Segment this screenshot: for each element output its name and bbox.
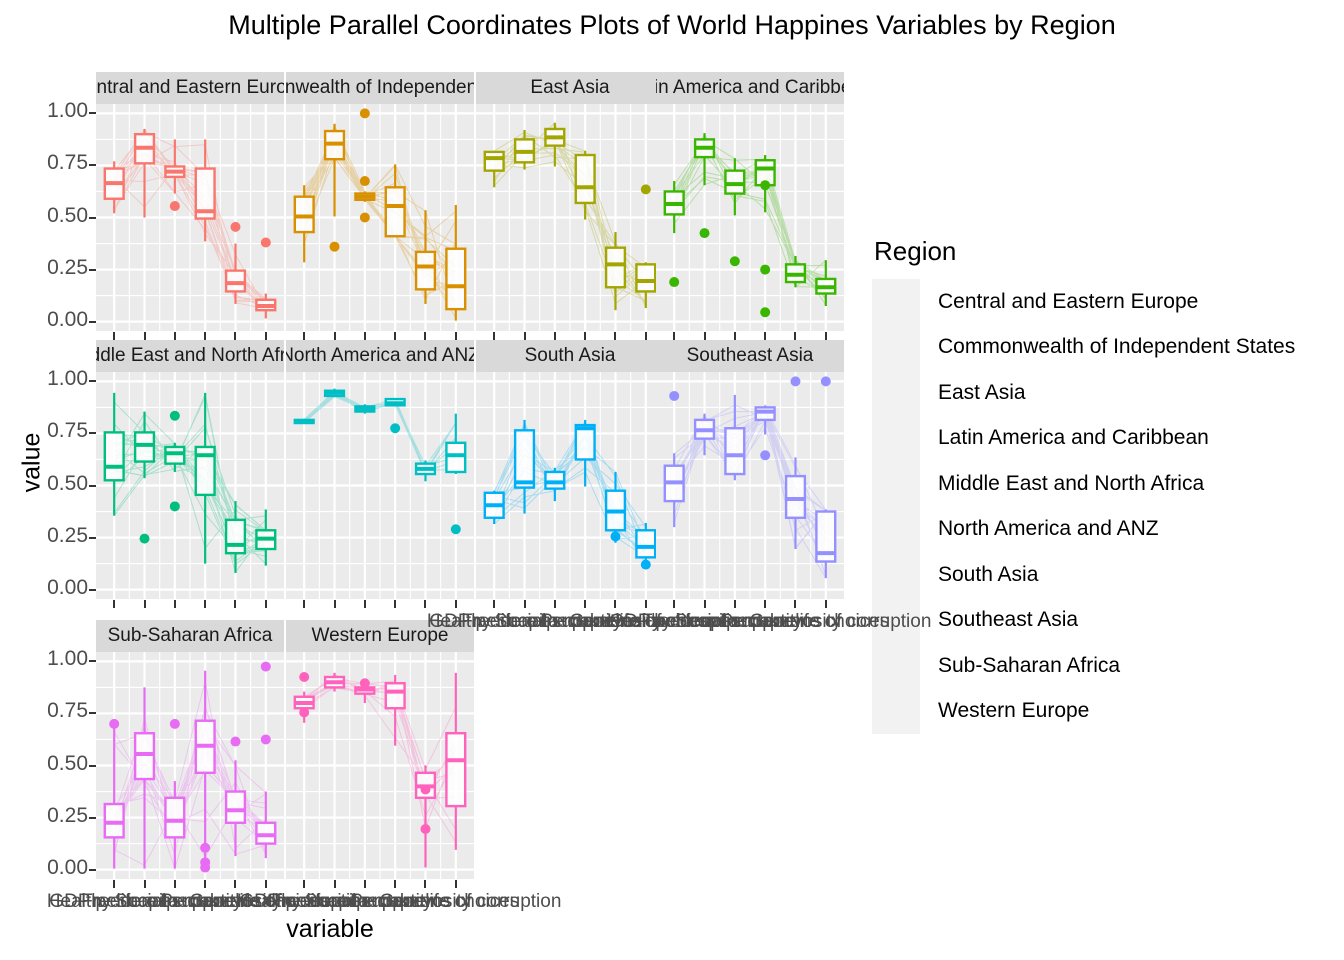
y-tick-mark bbox=[89, 589, 96, 591]
x-tick-mark bbox=[704, 332, 706, 340]
facet-panel-commonwealth-of-independent-states: Commonwealth of Independent States bbox=[286, 72, 474, 331]
facet-strip: South Asia bbox=[476, 340, 664, 372]
x-tick-mark bbox=[584, 332, 586, 340]
y-tick-label: 1.00 bbox=[18, 647, 88, 671]
y-tick-mark bbox=[89, 660, 96, 662]
legend-item-south-asia[interactable]: South Asia bbox=[872, 552, 1342, 598]
x-tick-mark bbox=[265, 600, 267, 608]
x-tick-mark bbox=[645, 600, 647, 608]
x-tick-mark bbox=[234, 880, 236, 888]
legend-key-background bbox=[872, 279, 920, 734]
legend-item-label: Central and Eastern Europe bbox=[938, 290, 1198, 314]
x-tick-mark bbox=[303, 600, 305, 608]
facet-strip-label: Central and Eastern Europe bbox=[96, 72, 284, 104]
facet-panel-latin-america-and-caribbean: Latin America and Caribbean bbox=[656, 72, 844, 331]
y-tick-label: 0.75 bbox=[18, 151, 88, 175]
x-tick-mark bbox=[113, 600, 115, 608]
legend-item-middle-east-and-north-africa[interactable]: Middle East and North Africa bbox=[872, 461, 1342, 507]
legend-item-southeast-asia[interactable]: Southeast Asia bbox=[872, 598, 1342, 644]
facet-strip-label: Sub-Saharan Africa bbox=[108, 620, 273, 652]
facet-strip-label: Commonwealth of Independent States bbox=[286, 72, 474, 104]
y-tick-mark bbox=[89, 712, 96, 714]
y-tick-mark bbox=[89, 217, 96, 219]
x-tick-mark bbox=[394, 600, 396, 608]
legend-item-label: Western Europe bbox=[938, 699, 1089, 723]
facet-strip-label: Southeast Asia bbox=[687, 340, 814, 372]
x-tick-mark bbox=[584, 600, 586, 608]
facet-strip-label: South Asia bbox=[525, 340, 616, 372]
facet-panel-middle-east-and-north-africa: Middle East and North Africa bbox=[96, 340, 284, 599]
facet-strip-label: Middle East and North Africa bbox=[96, 340, 284, 372]
facet-panel-southeast-asia: Southeast Asia bbox=[656, 340, 844, 599]
legend-item-latin-america-and-caribbean[interactable]: Latin America and Caribbean bbox=[872, 416, 1342, 462]
y-tick-label: 0.00 bbox=[18, 576, 88, 600]
plot-panel bbox=[286, 104, 474, 331]
x-tick-mark bbox=[174, 600, 176, 608]
y-tick-mark bbox=[89, 485, 96, 487]
facet-strip: Sub-Saharan Africa bbox=[96, 620, 284, 652]
x-tick-mark bbox=[234, 600, 236, 608]
x-tick-mark bbox=[303, 332, 305, 340]
legend-item-label: North America and ANZ bbox=[938, 517, 1159, 541]
y-tick-label: 1.00 bbox=[18, 99, 88, 123]
x-tick-mark bbox=[554, 600, 556, 608]
x-tick-mark bbox=[673, 600, 675, 608]
facet-strip: Central and Eastern Europe bbox=[96, 72, 284, 104]
facet-strip: Latin America and Caribbean bbox=[656, 72, 844, 104]
legend-item-label: South Asia bbox=[938, 563, 1038, 587]
legend-item-central-and-eastern-europe[interactable]: Central and Eastern Europe bbox=[872, 279, 1342, 325]
x-tick-mark bbox=[334, 332, 336, 340]
x-tick-mark bbox=[704, 600, 706, 608]
y-tick-label: 0.25 bbox=[18, 256, 88, 280]
x-tick-mark bbox=[673, 332, 675, 340]
legend-items: Central and Eastern EuropeCommonwealth o… bbox=[872, 279, 1342, 734]
y-tick-label: 0.25 bbox=[18, 524, 88, 548]
x-tick-mark bbox=[113, 880, 115, 888]
facet-strip-label: Latin America and Caribbean bbox=[656, 72, 844, 104]
x-tick-mark bbox=[424, 600, 426, 608]
plot-panel bbox=[656, 372, 844, 599]
x-tick-mark bbox=[734, 332, 736, 340]
x-tick-mark bbox=[424, 332, 426, 340]
legend-item-label: Commonwealth of Independent States bbox=[938, 335, 1295, 359]
legend-item-commonwealth-of-independent-states[interactable]: Commonwealth of Independent States bbox=[872, 325, 1342, 371]
y-tick-mark bbox=[89, 765, 96, 767]
x-tick-mark bbox=[144, 332, 146, 340]
x-tick-mark bbox=[364, 880, 366, 888]
x-tick-mark bbox=[394, 332, 396, 340]
facet-panel-sub-saharan-africa: Sub-Saharan Africa bbox=[96, 620, 284, 879]
legend-item-label: Southeast Asia bbox=[938, 608, 1078, 632]
facet-strip: Commonwealth of Independent States bbox=[286, 72, 474, 104]
y-tick-label: 0.25 bbox=[18, 804, 88, 828]
y-tick-label: 0.00 bbox=[18, 856, 88, 880]
x-tick-mark bbox=[764, 600, 766, 608]
x-tick-mark bbox=[794, 600, 796, 608]
facet-panel-central-and-eastern-europe: Central and Eastern Europe bbox=[96, 72, 284, 331]
x-tick-mark bbox=[364, 332, 366, 340]
plot-panel bbox=[656, 104, 844, 331]
plot-panel bbox=[286, 372, 474, 599]
facet-panel-north-america-and-anz: North America and ANZ bbox=[286, 340, 474, 599]
x-tick-mark bbox=[645, 332, 647, 340]
x-tick-mark bbox=[303, 880, 305, 888]
x-tick-mark bbox=[204, 600, 206, 608]
x-tick-mark bbox=[764, 332, 766, 340]
x-tick-mark bbox=[825, 600, 827, 608]
facet-strip: East Asia bbox=[476, 72, 664, 104]
legend-item-label: Latin America and Caribbean bbox=[938, 426, 1209, 450]
x-tick-mark bbox=[794, 332, 796, 340]
facet-grid: Central and Eastern EuropeCommonwealth o… bbox=[0, 0, 860, 960]
x-tick-mark bbox=[144, 880, 146, 888]
x-tick-label: Perceptions of corruption bbox=[720, 611, 931, 633]
plot-panel bbox=[476, 104, 664, 331]
plot-panel bbox=[96, 104, 284, 331]
legend-item-label: East Asia bbox=[938, 381, 1026, 405]
x-tick-mark bbox=[174, 880, 176, 888]
x-tick-mark bbox=[493, 600, 495, 608]
legend-item-label: Sub-Saharan Africa bbox=[938, 654, 1120, 678]
x-tick-mark bbox=[493, 332, 495, 340]
x-tick-mark bbox=[394, 880, 396, 888]
x-tick-mark bbox=[455, 332, 457, 340]
x-tick-mark bbox=[265, 880, 267, 888]
x-tick-mark bbox=[825, 332, 827, 340]
x-tick-mark bbox=[524, 600, 526, 608]
facet-panel-south-asia: South Asia bbox=[476, 340, 664, 599]
y-tick-label: 0.50 bbox=[18, 752, 88, 776]
x-tick-mark bbox=[234, 332, 236, 340]
x-tick-mark bbox=[424, 880, 426, 888]
y-tick-label: 1.00 bbox=[18, 367, 88, 391]
x-tick-mark bbox=[204, 880, 206, 888]
y-tick-mark bbox=[89, 537, 96, 539]
legend: Region Central and Eastern EuropeCommonw… bbox=[872, 236, 1342, 734]
x-tick-mark bbox=[524, 332, 526, 340]
y-tick-label: 0.50 bbox=[18, 204, 88, 228]
x-tick-mark bbox=[334, 600, 336, 608]
x-tick-mark bbox=[174, 332, 176, 340]
x-tick-mark bbox=[614, 600, 616, 608]
x-tick-mark bbox=[144, 600, 146, 608]
facet-strip-label: East Asia bbox=[530, 72, 609, 104]
legend-item-western-europe[interactable]: Western Europe bbox=[872, 689, 1342, 735]
plot-panel bbox=[286, 652, 474, 879]
legend-item-north-america-and-anz[interactable]: North America and ANZ bbox=[872, 507, 1342, 553]
x-tick-mark bbox=[334, 880, 336, 888]
legend-item-sub-saharan-africa[interactable]: Sub-Saharan Africa bbox=[872, 643, 1342, 689]
facet-panel-western-europe: Western Europe bbox=[286, 620, 474, 879]
y-tick-mark bbox=[89, 432, 96, 434]
x-tick-mark bbox=[455, 880, 457, 888]
y-tick-mark bbox=[89, 380, 96, 382]
plot-panel bbox=[96, 652, 284, 879]
legend-item-east-asia[interactable]: East Asia bbox=[872, 370, 1342, 416]
y-tick-mark bbox=[89, 112, 96, 114]
x-tick-mark bbox=[113, 332, 115, 340]
x-tick-mark bbox=[265, 332, 267, 340]
facet-panel-east-asia: East Asia bbox=[476, 72, 664, 331]
x-tick-mark bbox=[614, 332, 616, 340]
y-tick-label: 0.00 bbox=[18, 308, 88, 332]
y-tick-mark bbox=[89, 269, 96, 271]
legend-item-label: Middle East and North Africa bbox=[938, 472, 1204, 496]
y-tick-mark bbox=[89, 164, 96, 166]
y-tick-label: 0.75 bbox=[18, 419, 88, 443]
x-tick-mark bbox=[364, 600, 366, 608]
x-tick-label: Perceptions of corruption bbox=[350, 891, 561, 913]
y-tick-mark bbox=[89, 817, 96, 819]
legend-title: Region bbox=[874, 236, 1342, 267]
plot-panel bbox=[476, 372, 664, 599]
facet-strip-label: North America and ANZ bbox=[286, 340, 474, 372]
facet-strip: Middle East and North Africa bbox=[96, 340, 284, 372]
x-tick-mark bbox=[204, 332, 206, 340]
facet-strip: North America and ANZ bbox=[286, 340, 474, 372]
y-tick-mark bbox=[89, 321, 96, 323]
x-tick-mark bbox=[455, 600, 457, 608]
plot-panel bbox=[96, 372, 284, 599]
x-tick-mark bbox=[734, 600, 736, 608]
facet-strip: Southeast Asia bbox=[656, 340, 844, 372]
y-tick-label: 0.75 bbox=[18, 699, 88, 723]
x-tick-mark bbox=[554, 332, 556, 340]
y-tick-label: 0.50 bbox=[18, 472, 88, 496]
y-tick-mark bbox=[89, 869, 96, 871]
